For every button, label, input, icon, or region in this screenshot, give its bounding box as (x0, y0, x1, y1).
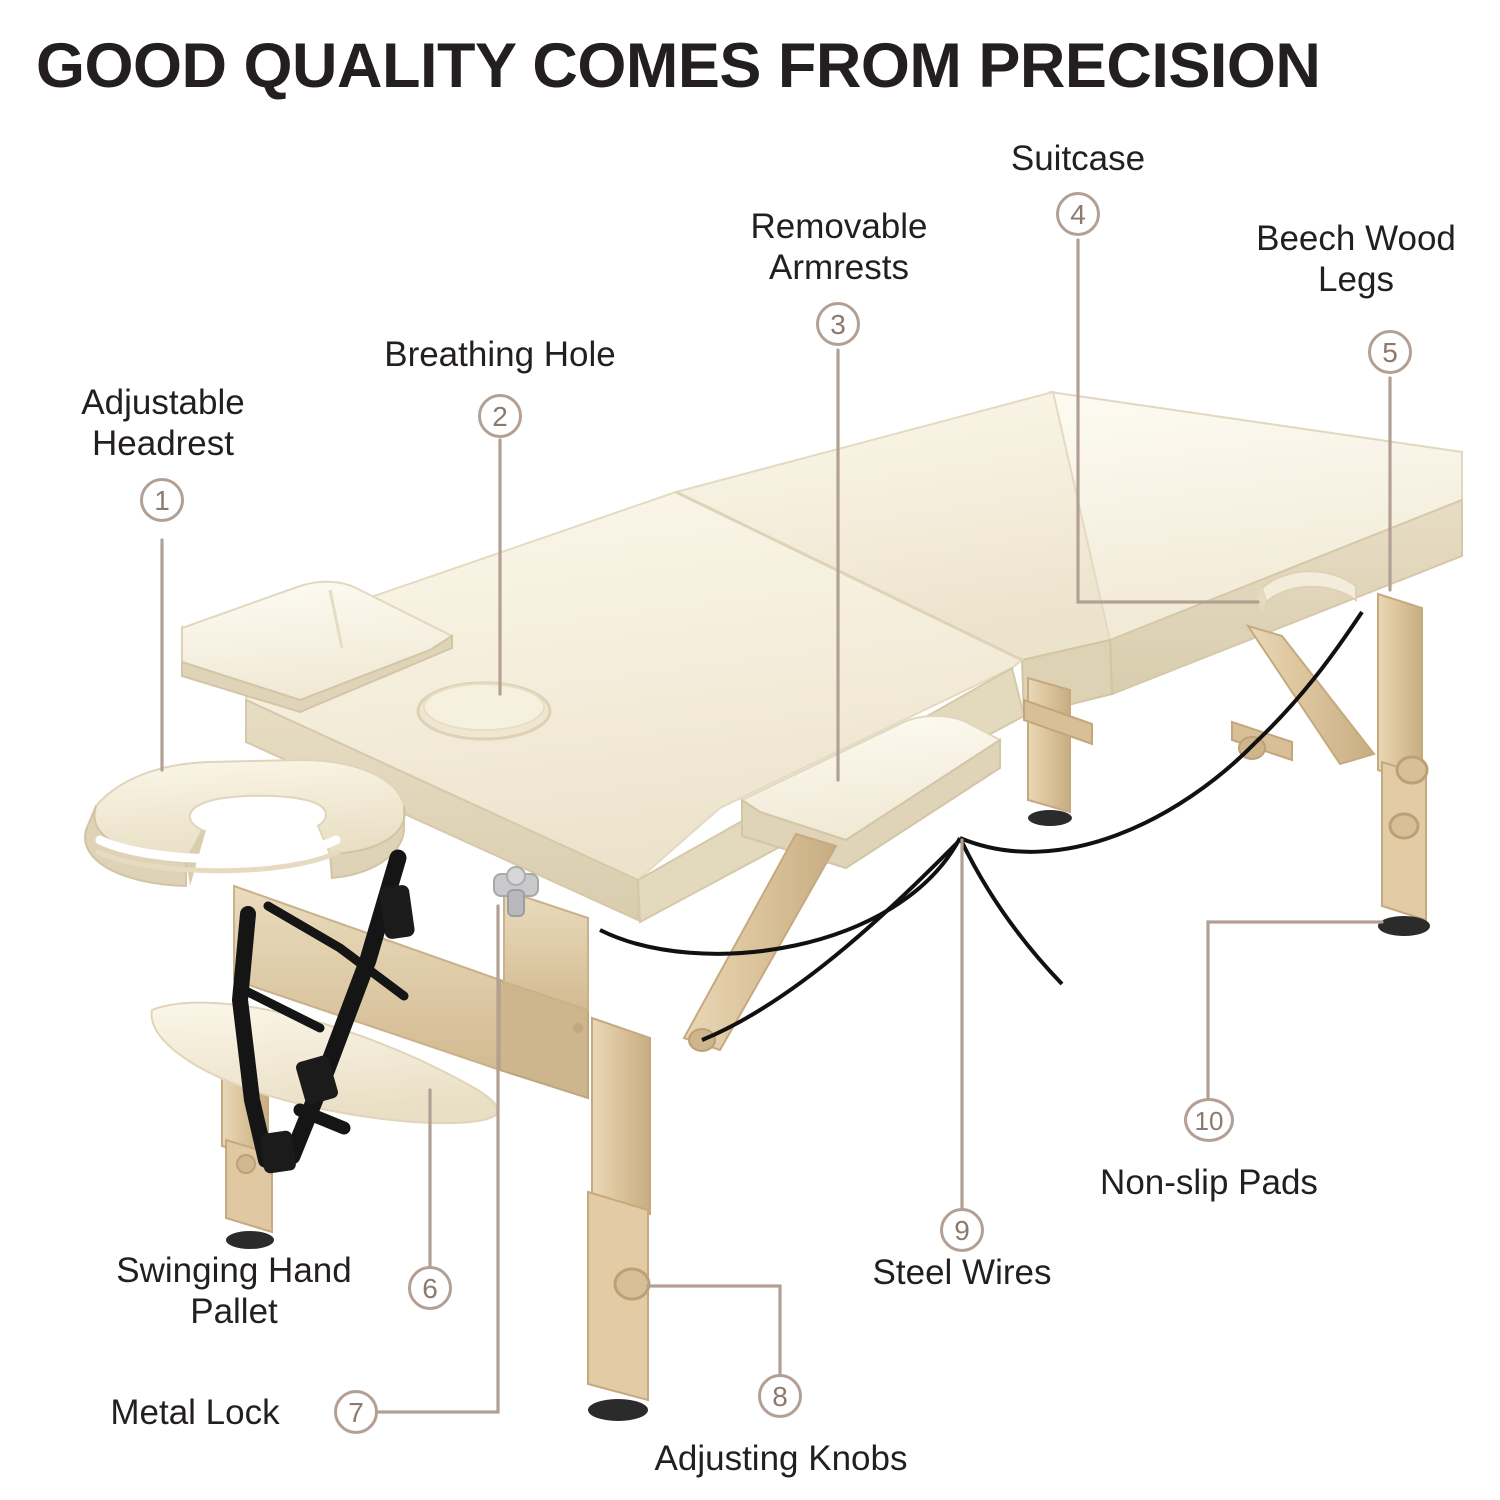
callout-badge-7: 7 (334, 1390, 378, 1434)
callout-label-6: Swinging Hand Pallet (74, 1250, 394, 1332)
non-slip-pad (1378, 916, 1430, 936)
callout-label-6-line2: Pallet (74, 1291, 394, 1332)
callout-label-9: Steel Wires (840, 1252, 1084, 1293)
callout-label-5-line2: Legs (1222, 259, 1490, 300)
callout-badge-9: 9 (940, 1208, 984, 1252)
leader-10 (1208, 922, 1382, 1112)
callout-label-10-line1: Non-slip Pads (1056, 1162, 1362, 1203)
callout-label-7: Metal Lock (72, 1392, 318, 1433)
callout-label-3-line1: Removable (700, 206, 978, 247)
callout-badge-10: 10 (1184, 1098, 1234, 1142)
infographic-canvas: GOOD QUALITY COMES FROM PRECISION Adjust… (0, 0, 1500, 1500)
callout-label-2: Breathing Hole (330, 334, 670, 375)
callout-badge-6: 6 (408, 1266, 452, 1310)
non-slip-pad (588, 1399, 648, 1421)
leg-far-right (1378, 594, 1430, 936)
callout-label-1: Adjustable Headrest (28, 382, 298, 464)
breathing-hole (418, 683, 550, 739)
callout-label-9-line1: Steel Wires (840, 1252, 1084, 1293)
callout-label-4-line1: Suitcase (940, 138, 1216, 179)
callout-label-10: Non-slip Pads (1056, 1162, 1362, 1203)
callout-badge-8: 8 (758, 1374, 802, 1418)
callout-label-3: Removable Armrests (700, 206, 978, 288)
callout-label-2-line1: Breathing Hole (330, 334, 670, 375)
non-slip-pad (1028, 810, 1072, 826)
callout-label-5: Beech Wood Legs (1222, 218, 1490, 300)
callout-label-6-line1: Swinging Hand (74, 1250, 394, 1291)
callout-badge-1: 1 (140, 478, 184, 522)
adjusting-knob (1397, 757, 1427, 783)
face-cradle (85, 760, 405, 886)
adjusting-knob (615, 1269, 649, 1299)
callout-badge-3: 3 (816, 302, 860, 346)
non-slip-pad (226, 1231, 274, 1249)
leg-near-right (588, 1018, 650, 1421)
callout-label-5-line1: Beech Wood (1222, 218, 1490, 259)
callout-label-7-line1: Metal Lock (72, 1392, 318, 1433)
callout-label-1-line2: Headrest (28, 423, 298, 464)
callout-label-4: Suitcase (940, 138, 1216, 179)
callout-label-8-line1: Adjusting Knobs (606, 1438, 956, 1479)
leader-8 (648, 1286, 780, 1388)
callout-badge-4: 4 (1056, 192, 1100, 236)
callout-label-3-line2: Armrests (700, 247, 978, 288)
page-title: GOOD QUALITY COMES FROM PRECISION (36, 30, 1476, 102)
callout-label-1-line1: Adjustable (28, 382, 298, 423)
callout-badge-5: 5 (1368, 330, 1412, 374)
callout-badge-2: 2 (478, 394, 522, 438)
callout-label-8: Adjusting Knobs (606, 1438, 956, 1479)
